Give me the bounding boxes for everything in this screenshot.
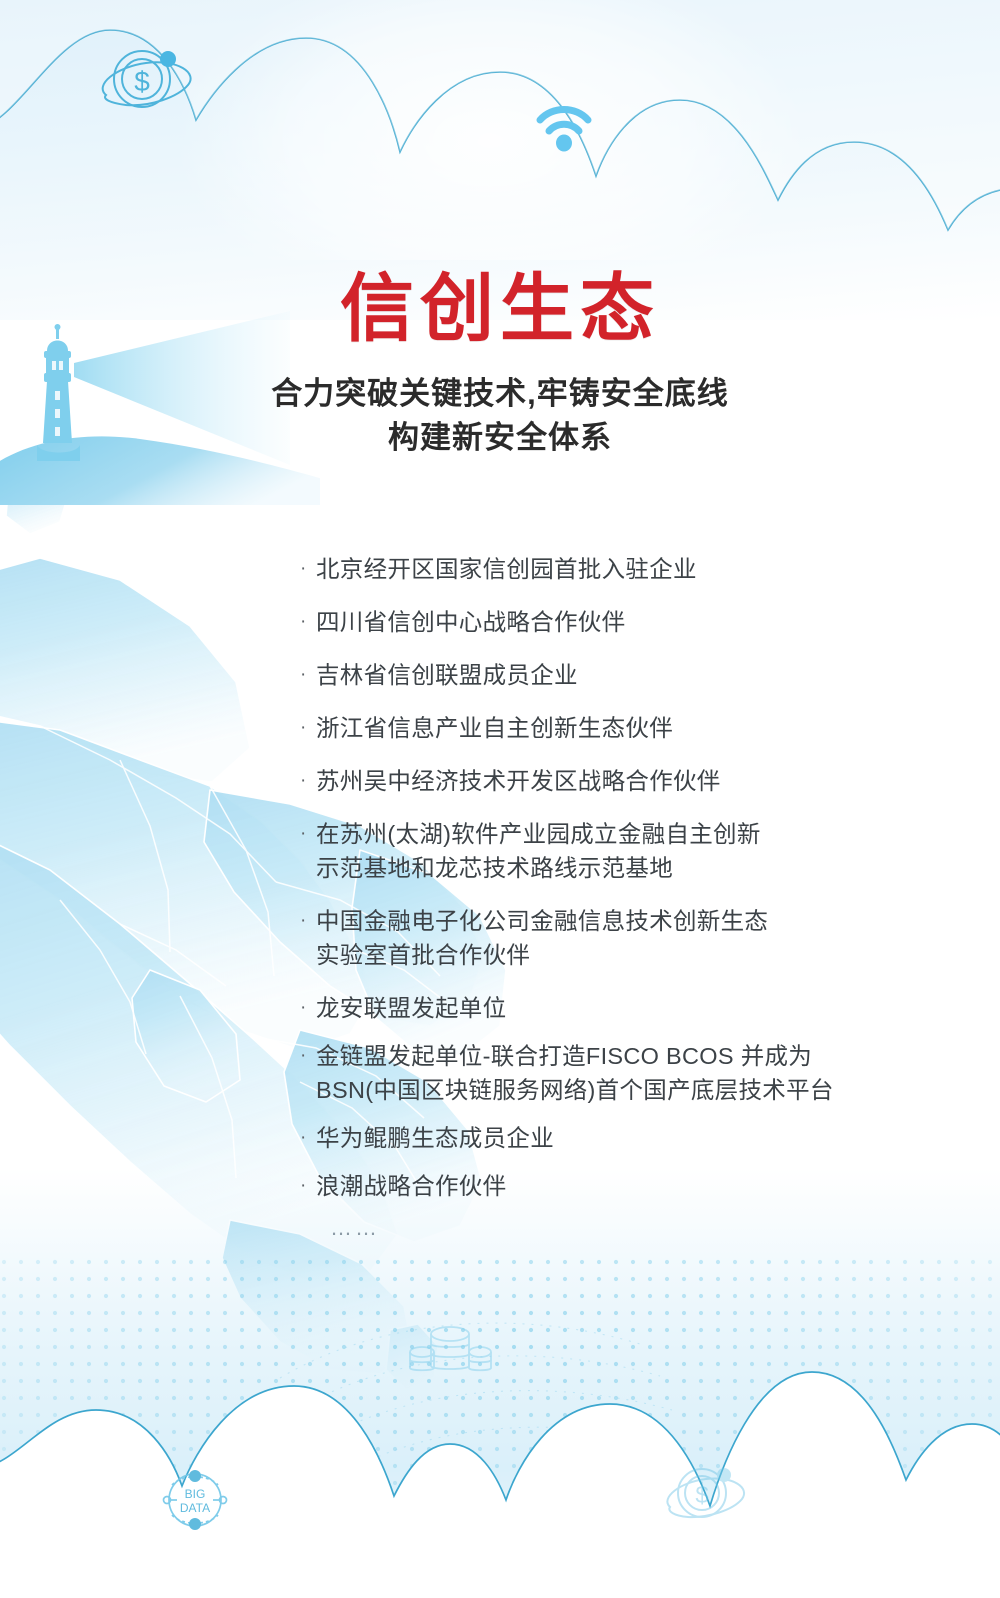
list-item-line: 北京经开区国家信创园首批入驻企业	[316, 552, 940, 586]
list-item-line: 苏州吴中经济技术开发区战略合作伙伴	[316, 764, 940, 798]
list-item: · 吉林省信创联盟成员企业	[300, 658, 940, 692]
list-item-line: 四川省信创中心战略合作伙伴	[316, 605, 940, 639]
list-item: · 北京经开区国家信创园首批入驻企业	[300, 552, 940, 586]
list-item-text: 金链盟发起单位-联合打造FISCO BCOS 并成为 BSN(中国区块链服务网络…	[316, 1039, 940, 1107]
list-item-text: 华为鲲鹏生态成员企业	[316, 1121, 940, 1155]
title-block: 信创生态 合力突破关键技术,牢铸安全底线 构建新安全体系	[0, 272, 1000, 460]
page-subtitle: 合力突破关键技术,牢铸安全底线 构建新安全体系	[0, 372, 1000, 460]
bullet-dot-icon: ·	[300, 904, 316, 938]
bullet-dot-icon: ·	[300, 764, 316, 798]
bullet-dot-icon: ·	[300, 817, 316, 851]
bullet-dot-icon: ·	[300, 605, 316, 639]
list-item-line: 金链盟发起单位-联合打造FISCO BCOS 并成为	[316, 1039, 940, 1073]
bullet-dot-icon: ·	[300, 991, 316, 1025]
list-ellipsis: ……	[300, 1215, 940, 1241]
list-item: · 龙安联盟发起单位	[300, 991, 940, 1025]
list-item-text: 苏州吴中经济技术开发区战略合作伙伴	[316, 764, 940, 798]
list-item-line: BSN(中国区块链服务网络)首个国产底层技术平台	[316, 1073, 940, 1107]
bullet-dot-icon: ·	[300, 711, 316, 745]
list-item: · 金链盟发起单位-联合打造FISCO BCOS 并成为 BSN(中国区块链服务…	[300, 1039, 940, 1107]
bullet-dot-icon: ·	[300, 1169, 316, 1203]
list-item-line: 吉林省信创联盟成员企业	[316, 658, 940, 692]
list-item-line: 浙江省信息产业自主创新生态伙伴	[316, 711, 940, 745]
list-item-line: 示范基地和龙芯技术路线示范基地	[316, 851, 940, 885]
poster-canvas: $	[0, 0, 1000, 1598]
list-item-text: 龙安联盟发起单位	[316, 991, 940, 1025]
list-item-text: 吉林省信创联盟成员企业	[316, 658, 940, 692]
bullet-dot-icon: ·	[300, 1121, 316, 1155]
page-title: 信创生态	[0, 272, 1000, 346]
list-item-line: 实验室首批合作伙伴	[316, 938, 940, 972]
list-item-line: 中国金融电子化公司金融信息技术创新生态	[316, 904, 940, 938]
bullet-dot-icon: ·	[300, 1039, 316, 1073]
list-item: · 苏州吴中经济技术开发区战略合作伙伴	[300, 764, 940, 798]
list-item-text: 浙江省信息产业自主创新生态伙伴	[316, 711, 940, 745]
list-item: · 四川省信创中心战略合作伙伴	[300, 605, 940, 639]
achievement-list: · 北京经开区国家信创园首批入驻企业 · 四川省信创中心战略合作伙伴 · 吉林省…	[300, 552, 940, 1241]
list-item-text: 浪潮战略合作伙伴	[316, 1169, 940, 1203]
list-item: · 浪潮战略合作伙伴	[300, 1169, 940, 1203]
list-item: · 浙江省信息产业自主创新生态伙伴	[300, 711, 940, 745]
list-item-line: 在苏州(太湖)软件产业园成立金融自主创新	[316, 817, 940, 851]
list-item-text: 在苏州(太湖)软件产业园成立金融自主创新 示范基地和龙芯技术路线示范基地	[316, 817, 940, 885]
list-item-line: 华为鲲鹏生态成员企业	[316, 1121, 940, 1155]
bullet-dot-icon: ·	[300, 552, 316, 586]
list-item-text: 四川省信创中心战略合作伙伴	[316, 605, 940, 639]
list-item: · 中国金融电子化公司金融信息技术创新生态 实验室首批合作伙伴	[300, 904, 940, 972]
list-item-line: 浪潮战略合作伙伴	[316, 1169, 940, 1203]
list-item-text: 中国金融电子化公司金融信息技术创新生态 实验室首批合作伙伴	[316, 904, 940, 972]
list-item: · 华为鲲鹏生态成员企业	[300, 1121, 940, 1155]
subtitle-line-2: 构建新安全体系	[0, 416, 1000, 460]
list-item-text: 北京经开区国家信创园首批入驻企业	[316, 552, 940, 586]
bullet-dot-icon: ·	[300, 658, 316, 692]
subtitle-line-1: 合力突破关键技术,牢铸安全底线	[0, 372, 1000, 416]
poster-content: 信创生态 合力突破关键技术,牢铸安全底线 构建新安全体系 · 北京经开区国家信创…	[0, 0, 1000, 1598]
list-item: · 在苏州(太湖)软件产业园成立金融自主创新 示范基地和龙芯技术路线示范基地	[300, 817, 940, 885]
list-item-line: 龙安联盟发起单位	[316, 991, 940, 1025]
